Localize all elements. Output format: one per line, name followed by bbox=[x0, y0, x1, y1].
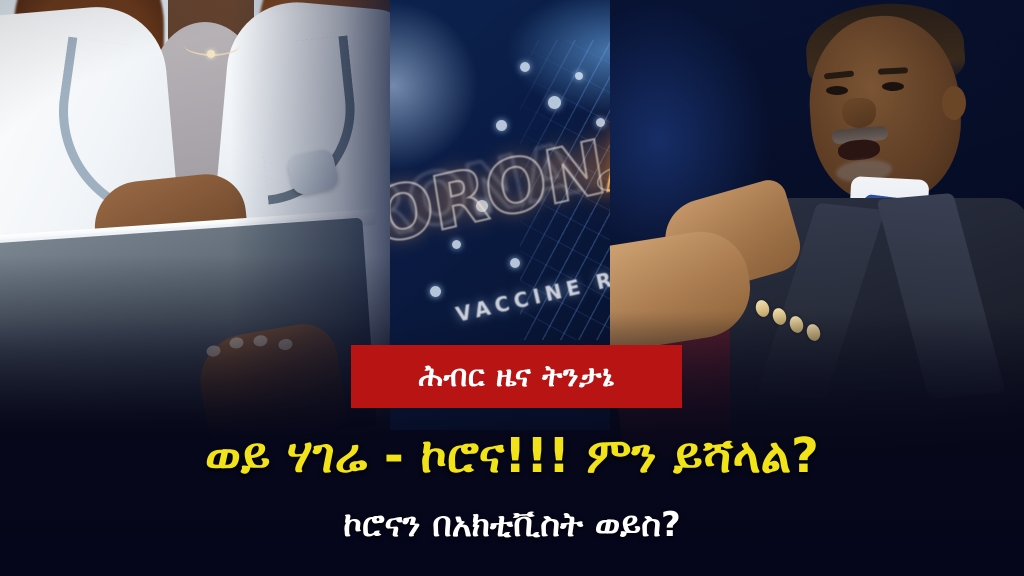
data-node bbox=[496, 120, 507, 131]
data-node bbox=[520, 62, 530, 72]
program-name-label: ሕብር ዜና ትንታኔ bbox=[419, 362, 615, 392]
doctor-fade-overlay bbox=[0, 0, 390, 440]
data-node bbox=[575, 72, 583, 80]
thumbnail-canvas: CORONAVIRUS VACCINE RESEARCH CORONA VACC… bbox=[0, 0, 1024, 576]
program-name-banner: ሕብር ዜና ትንታኔ bbox=[351, 345, 682, 408]
doctor-with-laptop-photo bbox=[0, 0, 390, 440]
data-node bbox=[548, 96, 561, 109]
headline-title: ወይ ሃገሬ - ኮሮና!!! ምን ይሻላል? bbox=[0, 432, 1024, 480]
headline-subtitle: ኮሮናን በአክቲቪስት ወይስ? bbox=[0, 508, 1024, 542]
